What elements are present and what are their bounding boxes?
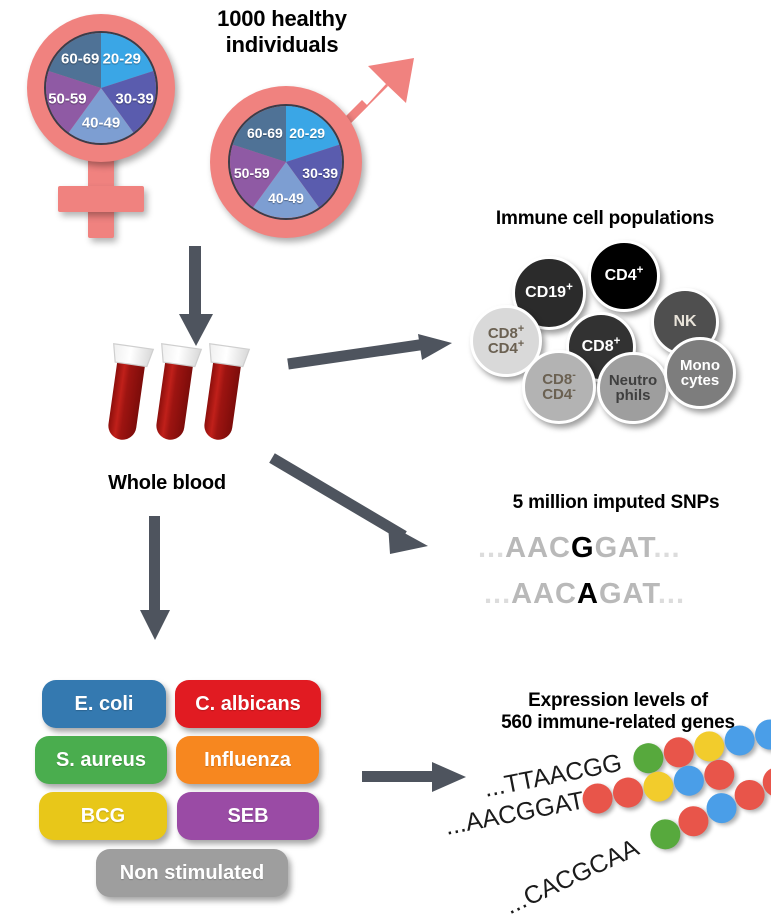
stimulus-box-seb[interactable]: SEB	[177, 792, 319, 840]
stimulus-box-non-stimulated[interactable]: Non stimulated	[96, 849, 288, 897]
expression-strand-group: ...TTAACGG...AACGGAT...CACGCAA	[440, 740, 771, 922]
expression-title-line2: 560 immune-related genes	[468, 712, 768, 734]
expression-strand-sequence: ...CACGCAA	[500, 834, 643, 921]
immune-cell-cd8-cd4[interactable]: CD8-CD4-	[522, 350, 596, 424]
immune-cell-mono-cytes[interactable]: Monocytes	[664, 337, 736, 409]
expression-gene-dot	[631, 741, 666, 776]
stimulus-box-e-coli[interactable]: E. coli	[42, 680, 166, 728]
expression-gene-dot	[610, 775, 645, 810]
stimulus-box-s-aureus[interactable]: S. aureus	[35, 736, 167, 784]
stimulus-label: BCG	[81, 805, 125, 828]
snp-sequence-block: ...AACGGAT......AACAGAT...	[478, 532, 758, 622]
immune-cell-label: CD19+	[525, 285, 573, 301]
stimulus-label: S. aureus	[56, 749, 146, 772]
immune-cell-label: CD8+	[582, 339, 621, 355]
snp-prefix: AAC	[505, 532, 571, 564]
stimulus-label: Non stimulated	[120, 862, 264, 885]
snp-sequence-row-1: ...AACGGAT...	[478, 532, 681, 565]
snp-right-ellipsis: ...	[658, 578, 685, 610]
immune-cell-label: Monocytes	[680, 358, 720, 389]
stimulus-box-c-albicans[interactable]: C. albicans	[175, 680, 321, 728]
snp-variant-base: A	[577, 578, 599, 610]
expression-gene-dot	[641, 769, 676, 804]
stimulus-label: E. coli	[75, 693, 134, 716]
snp-prefix: AAC	[511, 578, 577, 610]
stimulus-label: Influenza	[204, 749, 291, 772]
expression-gene-dot	[702, 757, 737, 792]
snp-right-ellipsis: ...	[653, 532, 680, 564]
stimuli-group: E. coliC. albicansS. aureusInfluenzaBCGS…	[0, 0, 400, 922]
immune-cell-label: NK	[673, 314, 696, 330]
diagram-canvas: 1000 healthy individuals 20-2930-3940-49…	[0, 0, 771, 922]
stimulus-label: C. albicans	[195, 693, 301, 716]
immune-cell-label: CD8-CD4-	[542, 372, 576, 403]
immune-cell-cd4-[interactable]: CD4+	[588, 240, 660, 312]
immune-cell-label: CD8+CD4+	[488, 326, 524, 357]
snps-title: 5 million imputed SNPs	[466, 492, 766, 514]
snp-suffix: GAT	[595, 532, 654, 564]
snp-left-ellipsis: ...	[484, 578, 511, 610]
snp-left-ellipsis: ...	[478, 532, 505, 564]
immune-cell-label: CD4+	[605, 268, 644, 284]
expression-title: Expression levels of 560 immune-related …	[468, 690, 768, 735]
expression-title-line1: Expression levels of	[468, 690, 768, 712]
stimulus-label: SEB	[227, 805, 268, 828]
snp-sequence-row-2: ...AACAGAT...	[484, 578, 685, 611]
immune-cell-neutro-phils[interactable]: Neutrophils	[597, 352, 669, 424]
stimulus-box-bcg[interactable]: BCG	[39, 792, 167, 840]
expression-gene-dot	[671, 763, 706, 798]
expression-gene-dot	[661, 735, 696, 770]
snp-variant-base: G	[571, 532, 595, 564]
stimulus-box-influenza[interactable]: Influenza	[176, 736, 319, 784]
snp-suffix: GAT	[599, 578, 658, 610]
immune-cell-label: Neutrophils	[609, 373, 657, 404]
